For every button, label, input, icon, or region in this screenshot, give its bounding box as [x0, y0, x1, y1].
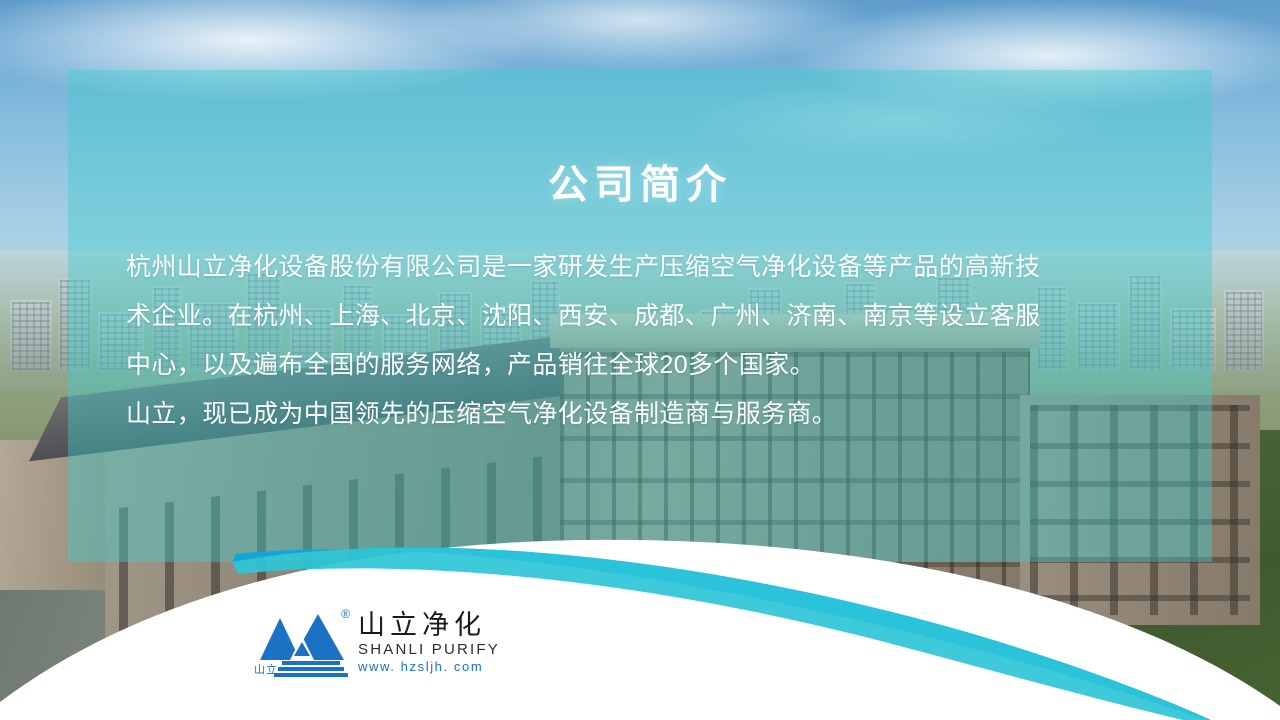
company-logo: ® 山立 山立净化 SHANLI PURIFY www. hzsljh. com	[256, 606, 500, 678]
logo-website-url: www. hzsljh. com	[358, 660, 500, 673]
body-text-block: 杭州山立净化设备股份有限公司是一家研发生产压缩空气净化设备等产品的高新技 术企业…	[126, 243, 1114, 439]
logo-company-name-cn: 山立净化	[358, 612, 500, 639]
registered-trademark-icon: ®	[341, 608, 350, 620]
logo-mark-caption: 山立	[254, 665, 278, 676]
paragraph-line-3: 中心，以及遍布全国的服务网络，产品销往全球20多个国家。	[126, 341, 1114, 390]
logo-company-name-en: SHANLI PURIFY	[358, 642, 500, 657]
paragraph-line-1: 杭州山立净化设备股份有限公司是一家研发生产压缩空气净化设备等产品的高新技	[126, 243, 1114, 292]
paragraph-line-4: 山立，现已成为中国领先的压缩空气净化设备制造商与服务商。	[126, 390, 1114, 439]
paragraph-line-2: 术企业。在杭州、上海、北京、沈阳、西安、成都、广州、济南、南京等设立客服	[126, 292, 1114, 341]
logo-wordmark: 山立净化 SHANLI PURIFY www. hzsljh. com	[358, 612, 500, 673]
presentation-slide: 公司简介 杭州山立净化设备股份有限公司是一家研发生产压缩空气净化设备等产品的高新…	[0, 0, 1280, 720]
page-title: 公司简介	[0, 152, 1280, 210]
mountain-logo-icon: ® 山立	[256, 606, 348, 678]
bottom-decoration	[0, 470, 1280, 720]
